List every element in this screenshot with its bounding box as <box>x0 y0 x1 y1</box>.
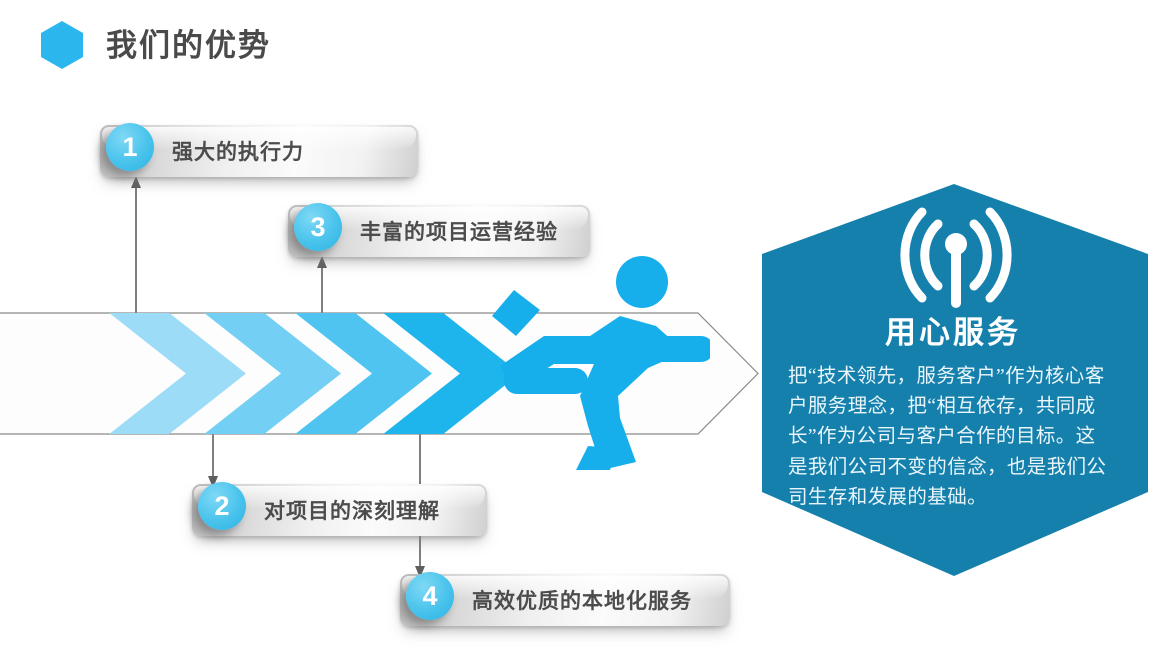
advantage-badge-4: 4 <box>406 572 454 620</box>
running-man-icon <box>470 250 710 470</box>
advantage-badge-1: 1 <box>106 123 154 171</box>
service-panel: 用心服务 把“技术领先，服务客户”作为核心客户服务理念，把“相互依存，共同成长”… <box>758 182 1158 580</box>
advantage-box-3[interactable]: 3 丰富的项目运营经验 <box>288 205 590 257</box>
connector-arrow-up-3 <box>312 256 332 316</box>
advantage-label-1: 强大的执行力 <box>172 136 304 166</box>
hexagon-icon <box>40 20 84 70</box>
advantage-box-1[interactable]: 1 强大的执行力 <box>100 125 418 177</box>
slide-canvas: 我们的优势 <box>0 0 1163 660</box>
slide-header: 我们的优势 <box>40 18 271 72</box>
advantage-label-3: 丰富的项目运营经验 <box>360 216 558 246</box>
advantage-label-4: 高效优质的本地化服务 <box>472 585 692 615</box>
advantage-badge-3: 3 <box>294 203 342 251</box>
panel-body-text: 把“技术领先，服务客户”作为核心客户服务理念，把“相互依存，共同成长”作为公司与… <box>788 362 1108 513</box>
panel-title: 用心服务 <box>758 317 1148 348</box>
advantage-badge-2: 2 <box>198 482 246 530</box>
advantage-box-4[interactable]: 4 高效优质的本地化服务 <box>400 574 730 626</box>
connector-arrow-down-2 <box>203 432 223 488</box>
advantage-label-2: 对项目的深刻理解 <box>264 495 440 525</box>
broadcast-signal-icon <box>886 202 1026 312</box>
page-title: 我们的优势 <box>106 30 271 61</box>
advantage-box-2[interactable]: 2 对项目的深刻理解 <box>192 484 487 536</box>
connector-arrow-up-1 <box>126 176 146 316</box>
